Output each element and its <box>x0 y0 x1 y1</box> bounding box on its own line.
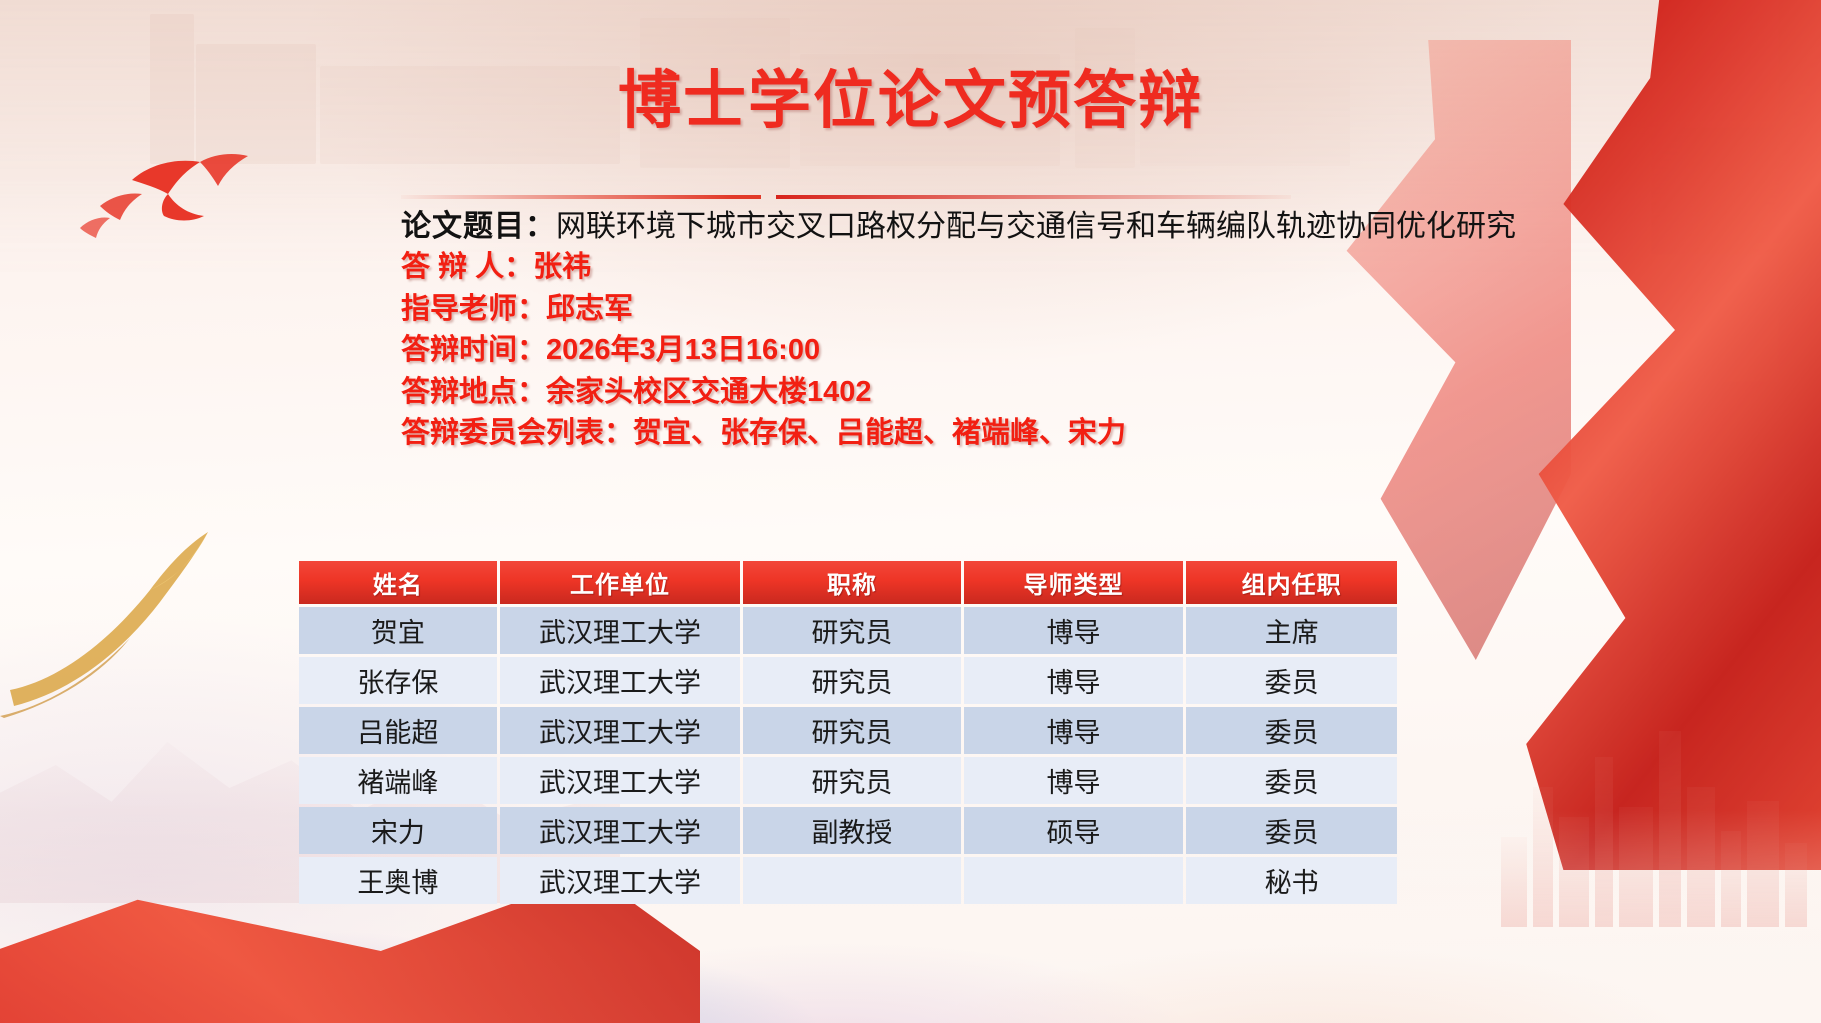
cell-name: 贺宜 <box>299 607 497 654</box>
committee-table-wrap: 姓名 工作单位 职称 导师类型 组内任职 贺宜 武汉理工大学 研究员 博导 主席… <box>296 558 1400 907</box>
cell-name: 张存保 <box>299 657 497 704</box>
defense-info-block: 论文题目：网联环境下城市交叉口路权分配与交通信号和车辆编队轨迹协同优化研究 答 … <box>401 192 1321 455</box>
cell-role: 委员 <box>1186 707 1397 754</box>
cell-org: 武汉理工大学 <box>500 707 740 754</box>
defense-location-row: 答辩地点：余家头校区交通大楼1402 <box>401 372 1321 413</box>
committee-list-row: 答辩委员会列表：贺宜、张存保、吕能超、褚端峰、宋力 <box>401 413 1321 454</box>
thesis-title-label: 论文题目： <box>401 210 556 243</box>
cell-name: 吕能超 <box>299 707 497 754</box>
table-row: 宋力 武汉理工大学 副教授 硕导 委员 <box>299 807 1397 854</box>
divider-rule <box>401 192 1291 200</box>
cell-role: 委员 <box>1186 657 1397 704</box>
cell-role: 秘书 <box>1186 857 1397 904</box>
cell-type: 博导 <box>964 607 1184 654</box>
cell-rank: 研究员 <box>743 707 961 754</box>
cell-role: 委员 <box>1186 807 1397 854</box>
table-row: 吕能超 武汉理工大学 研究员 博导 委员 <box>299 707 1397 754</box>
committee-list-label: 答辩委员会列表： <box>401 417 633 449</box>
cell-org: 武汉理工大学 <box>500 807 740 854</box>
cell-name: 褚端峰 <box>299 757 497 804</box>
thesis-title-value: 网联环境下城市交叉口路权分配与交通信号和车辆编队轨迹协同优化研究 <box>556 210 1516 243</box>
table-row: 贺宜 武汉理工大学 研究员 博导 主席 <box>299 607 1397 654</box>
city-skyline-decoration <box>1491 677 1821 927</box>
cell-type: 博导 <box>964 657 1184 704</box>
column-header-name: 姓名 <box>299 561 497 604</box>
slide-canvas: 博士学位论文预答辩 论文题目：网联环境下城市交叉口路权分配与交通信号和车辆编队轨… <box>0 0 1821 1023</box>
column-header-rank: 职称 <box>743 561 961 604</box>
cell-role: 主席 <box>1186 607 1397 654</box>
thesis-title-row: 论文题目：网联环境下城市交叉口路权分配与交通信号和车辆编队轨迹协同优化研究 <box>401 206 1321 247</box>
cell-name: 宋力 <box>299 807 497 854</box>
defense-location-label: 答辩地点： <box>401 376 546 408</box>
table-header-row: 姓名 工作单位 职称 导师类型 组内任职 <box>299 561 1397 604</box>
advisor-row: 指导老师：邱志军 <box>401 289 1321 330</box>
cell-rank: 研究员 <box>743 607 961 654</box>
candidate-row: 答 辩 人：张祎 <box>401 247 1321 288</box>
defense-time-value: 2026年3月13日16:00 <box>546 334 820 366</box>
committee-list-value: 贺宜、张存保、吕能超、褚端峰、宋力 <box>633 417 1126 449</box>
cell-type <box>964 857 1184 904</box>
candidate-value: 张祎 <box>533 251 591 283</box>
cell-org: 武汉理工大学 <box>500 607 740 654</box>
advisor-value: 邱志军 <box>546 293 633 325</box>
cell-role: 委员 <box>1186 757 1397 804</box>
table-row: 褚端峰 武汉理工大学 研究员 博导 委员 <box>299 757 1397 804</box>
cell-rank: 研究员 <box>743 657 961 704</box>
committee-table-body: 贺宜 武汉理工大学 研究员 博导 主席 张存保 武汉理工大学 研究员 博导 委员… <box>299 607 1397 904</box>
cell-org: 武汉理工大学 <box>500 657 740 704</box>
cell-org: 武汉理工大学 <box>500 857 740 904</box>
cell-rank: 副教授 <box>743 807 961 854</box>
cell-rank <box>743 857 961 904</box>
column-header-role: 组内任职 <box>1186 561 1397 604</box>
cell-org: 武汉理工大学 <box>500 757 740 804</box>
committee-table: 姓名 工作单位 职称 导师类型 组内任职 贺宜 武汉理工大学 研究员 博导 主席… <box>296 558 1400 907</box>
defense-time-label: 答辩时间： <box>401 334 546 366</box>
advisor-label: 指导老师： <box>401 293 546 325</box>
cell-type: 硕导 <box>964 807 1184 854</box>
cell-type: 博导 <box>964 707 1184 754</box>
column-header-org: 工作单位 <box>500 561 740 604</box>
column-header-type: 导师类型 <box>964 561 1184 604</box>
table-row: 王奥博 武汉理工大学 秘书 <box>299 857 1397 904</box>
cell-name: 王奥博 <box>299 857 497 904</box>
cell-type: 博导 <box>964 757 1184 804</box>
defense-location-value: 余家头校区交通大楼1402 <box>546 376 872 408</box>
page-title: 博士学位论文预答辩 <box>0 50 1821 141</box>
cell-rank: 研究员 <box>743 757 961 804</box>
defense-time-row: 答辩时间：2026年3月13日16:00 <box>401 330 1321 371</box>
gold-ribbon-decoration <box>0 520 300 720</box>
flying-doves-icon <box>72 128 302 248</box>
table-row: 张存保 武汉理工大学 研究员 博导 委员 <box>299 657 1397 704</box>
candidate-label: 答 辩 人： <box>401 251 533 283</box>
